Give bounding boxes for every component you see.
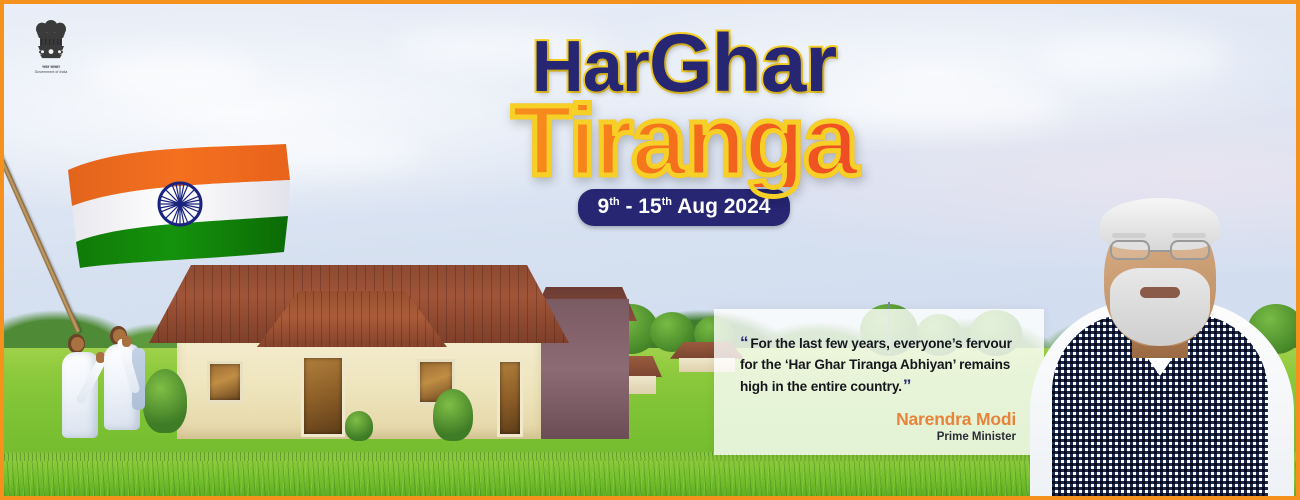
- pm-spectacles-left: [1110, 240, 1150, 260]
- date-day-end: 15: [638, 195, 661, 218]
- emblem-english-text: Government of India: [22, 70, 80, 75]
- child-hoisting-flag: [100, 326, 162, 464]
- pm-eyebrow-left: [1112, 233, 1146, 238]
- har-ghar-tiranga-banner: भारत सरकार Government of India HarGhar T…: [0, 0, 1300, 500]
- quote-open-mark: “: [740, 333, 748, 352]
- quote-close-mark: ”: [903, 376, 911, 395]
- date-day-end-suffix: th: [662, 196, 672, 208]
- house-door: [301, 355, 345, 437]
- quote-author-name: Narendra Modi: [740, 409, 1016, 430]
- quote-author-role: Prime Minister: [740, 431, 1016, 443]
- house-window: [207, 361, 243, 403]
- campaign-title: HarGhar Tiranga 9th - 15th Aug 2024: [474, 26, 894, 226]
- indian-tricolour-flag: [62, 142, 292, 272]
- pm-spectacles-bridge: [1150, 250, 1170, 252]
- garden-shrub: [345, 411, 373, 441]
- prime-minister-photo: [1022, 190, 1300, 496]
- state-emblem-of-india: भारत सरकार Government of India: [22, 20, 80, 75]
- pm-mouth: [1140, 287, 1180, 298]
- ashoka-lion-capital-icon: [31, 20, 71, 64]
- pm-beard: [1110, 268, 1210, 346]
- date-day-start: 9: [598, 195, 610, 218]
- house-side-door: [497, 359, 523, 437]
- quote-text-block: “For the last few years, everyone’s ferv…: [740, 331, 1020, 399]
- pm-eyebrow-right: [1172, 233, 1206, 238]
- title-line-tiranga: Tiranga: [474, 95, 894, 187]
- date-month-year: Aug 2024: [677, 195, 770, 218]
- date-day-start-suffix: th: [609, 196, 619, 208]
- pm-quote-card: “For the last few years, everyone’s ferv…: [714, 309, 1044, 455]
- quote-attribution: Narendra Modi Prime Minister: [740, 409, 1020, 443]
- quote-body: For the last few years, everyone’s fervo…: [740, 336, 1012, 394]
- pm-spectacles-right: [1170, 240, 1210, 260]
- garden-shrub: [433, 389, 473, 441]
- date-separator: -: [625, 195, 632, 218]
